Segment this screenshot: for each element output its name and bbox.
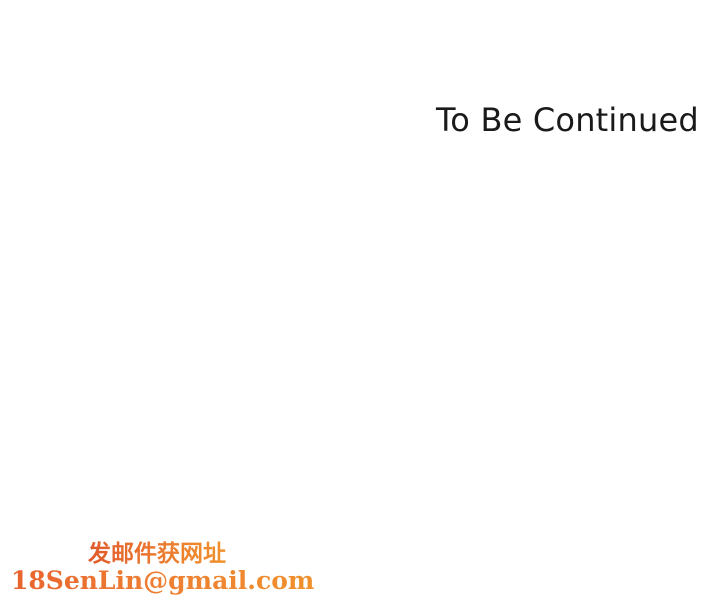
watermark-chinese-text: 发邮件获网址 [88,541,226,567]
page-canvas: To Be Continued 发邮件获网址 18SenLin@gmail.co… [0,0,720,600]
watermark: 发邮件获网址 18SenLin@gmail.com [0,536,300,600]
to-be-continued-text: To Be Continued [436,100,699,140]
watermark-email-text: 18SenLin@gmail.com [11,567,314,595]
